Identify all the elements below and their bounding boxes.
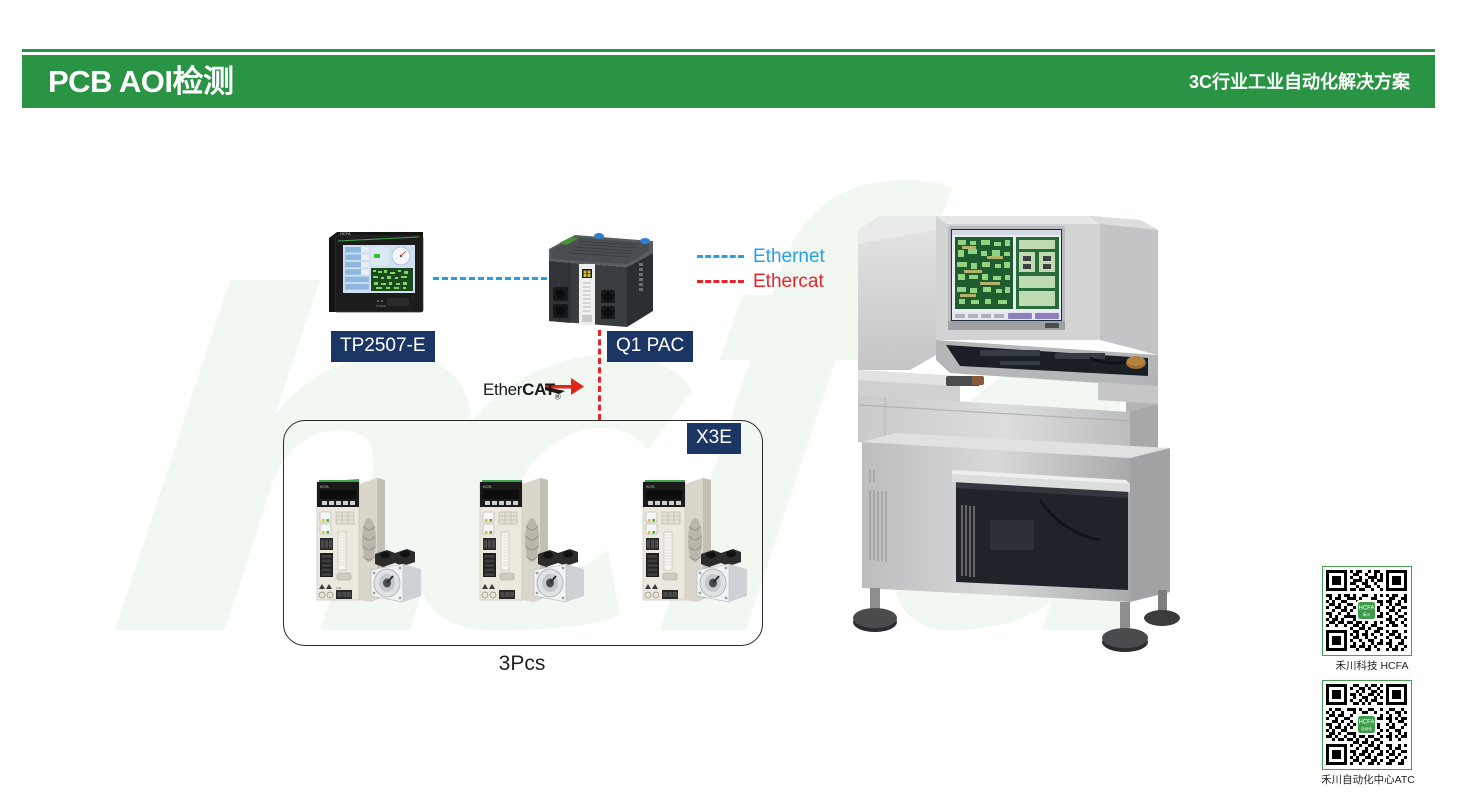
servo-drive-icon: HCFA bbox=[629, 468, 751, 608]
aoi-machine-icon bbox=[840, 190, 1200, 690]
legend-item-ethernet: Ethernet bbox=[697, 244, 825, 269]
servo-group-quantity: 3Pcs bbox=[283, 650, 761, 678]
label-q1-pac: Q1 PAC bbox=[607, 331, 693, 362]
svg-text:HCFA: HCFA bbox=[483, 485, 492, 489]
qr-caption-atc: 禾川自动化中心ATC bbox=[1314, 772, 1422, 788]
link-ethernet-hmi-to-pac bbox=[433, 277, 547, 280]
qr-code-block: HCFA 禾川 禾川科技 HCFA bbox=[1322, 566, 1422, 794]
link-ethercat-pac-to-servos bbox=[598, 330, 601, 420]
hmi-touch-panel-icon: HCFA bbox=[323, 226, 431, 318]
device-servo-drive-3[interactable]: HCFA bbox=[629, 468, 751, 608]
svg-text:HCFA: HCFA bbox=[1358, 720, 1374, 726]
svg-text:HCFA: HCFA bbox=[1358, 606, 1374, 612]
qr-code-hcfa-icon[interactable]: HCFA 禾川 bbox=[1322, 566, 1412, 656]
legend-swatch-ethernet-icon bbox=[697, 255, 744, 258]
legend-label-ethernet: Ethernet bbox=[753, 245, 825, 268]
label-tp2507e: TP2507-E bbox=[331, 331, 435, 362]
device-servo-drive-1[interactable]: HCFA bbox=[303, 468, 425, 608]
svg-text:HCFA: HCFA bbox=[340, 231, 351, 236]
label-x3e: X3E bbox=[687, 423, 741, 454]
svg-text:X3E: X3E bbox=[336, 586, 342, 590]
svg-text:自动化: 自动化 bbox=[1361, 726, 1372, 731]
device-q1-pac[interactable] bbox=[541, 227, 663, 331]
legend-swatch-ethercat-icon bbox=[697, 280, 744, 283]
legend: Ethernet Ethercat bbox=[697, 244, 825, 294]
qr-caption-hcfa: 禾川科技 HCFA bbox=[1322, 658, 1422, 674]
svg-text:禾川: 禾川 bbox=[1363, 612, 1371, 617]
ethercat-logo: EtherCAT® bbox=[483, 374, 585, 400]
header-subtitle: 3C行业工业自动化解决方案 bbox=[1189, 68, 1410, 96]
legend-label-ethercat: Ethercat bbox=[753, 270, 824, 293]
svg-text:HCFA: HCFA bbox=[320, 485, 329, 489]
servo-drive-icon: HCFA bbox=[303, 468, 425, 608]
header-top-rule bbox=[22, 49, 1435, 52]
ethercat-wordmark: EtherCAT® bbox=[483, 380, 561, 406]
svg-text:POWER: POWER bbox=[376, 304, 386, 308]
qr-code-atc-icon[interactable]: HCFA 自动化 bbox=[1322, 680, 1412, 770]
qr-item-hcfa[interactable]: HCFA 禾川 禾川科技 HCFA bbox=[1322, 566, 1422, 674]
qr-item-atc[interactable]: HCFA 自动化 禾川自动化中心ATC bbox=[1322, 680, 1422, 788]
svg-text:HCFA: HCFA bbox=[646, 485, 655, 489]
legend-item-ethercat: Ethercat bbox=[697, 269, 825, 294]
page-title: PCB AOI检测 bbox=[48, 61, 234, 103]
device-servo-drive-2[interactable]: HCFA bbox=[466, 468, 588, 608]
aoi-inspection-machine[interactable] bbox=[840, 190, 1200, 690]
plc-controller-icon bbox=[541, 227, 663, 331]
device-hmi-tp2507e[interactable]: HCFA bbox=[323, 226, 431, 318]
servo-drive-icon: HCFA bbox=[466, 468, 588, 608]
